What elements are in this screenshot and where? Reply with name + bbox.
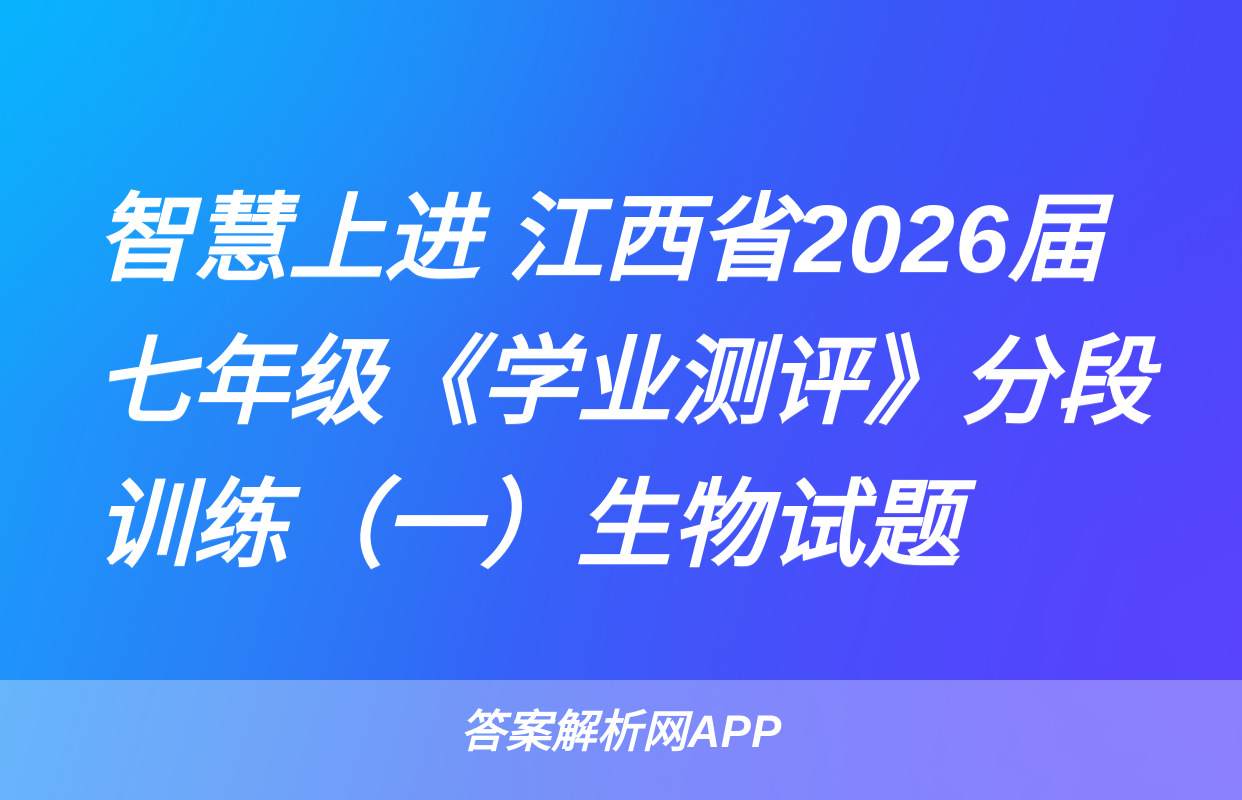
exam-title-text: 智慧上进 江西省2026届七年级《学业测评》分段训练（一）生物试题: [96, 168, 1152, 597]
page-title: 智慧上进 江西省2026届七年级《学业测评》分段训练（一）生物试题: [96, 168, 1152, 597]
app-watermark: 答案解析网APP: [0, 704, 1242, 760]
exam-cover-card: 智慧上进 江西省2026届七年级《学业测评》分段训练（一）生物试题 答案解析网A…: [0, 0, 1242, 800]
